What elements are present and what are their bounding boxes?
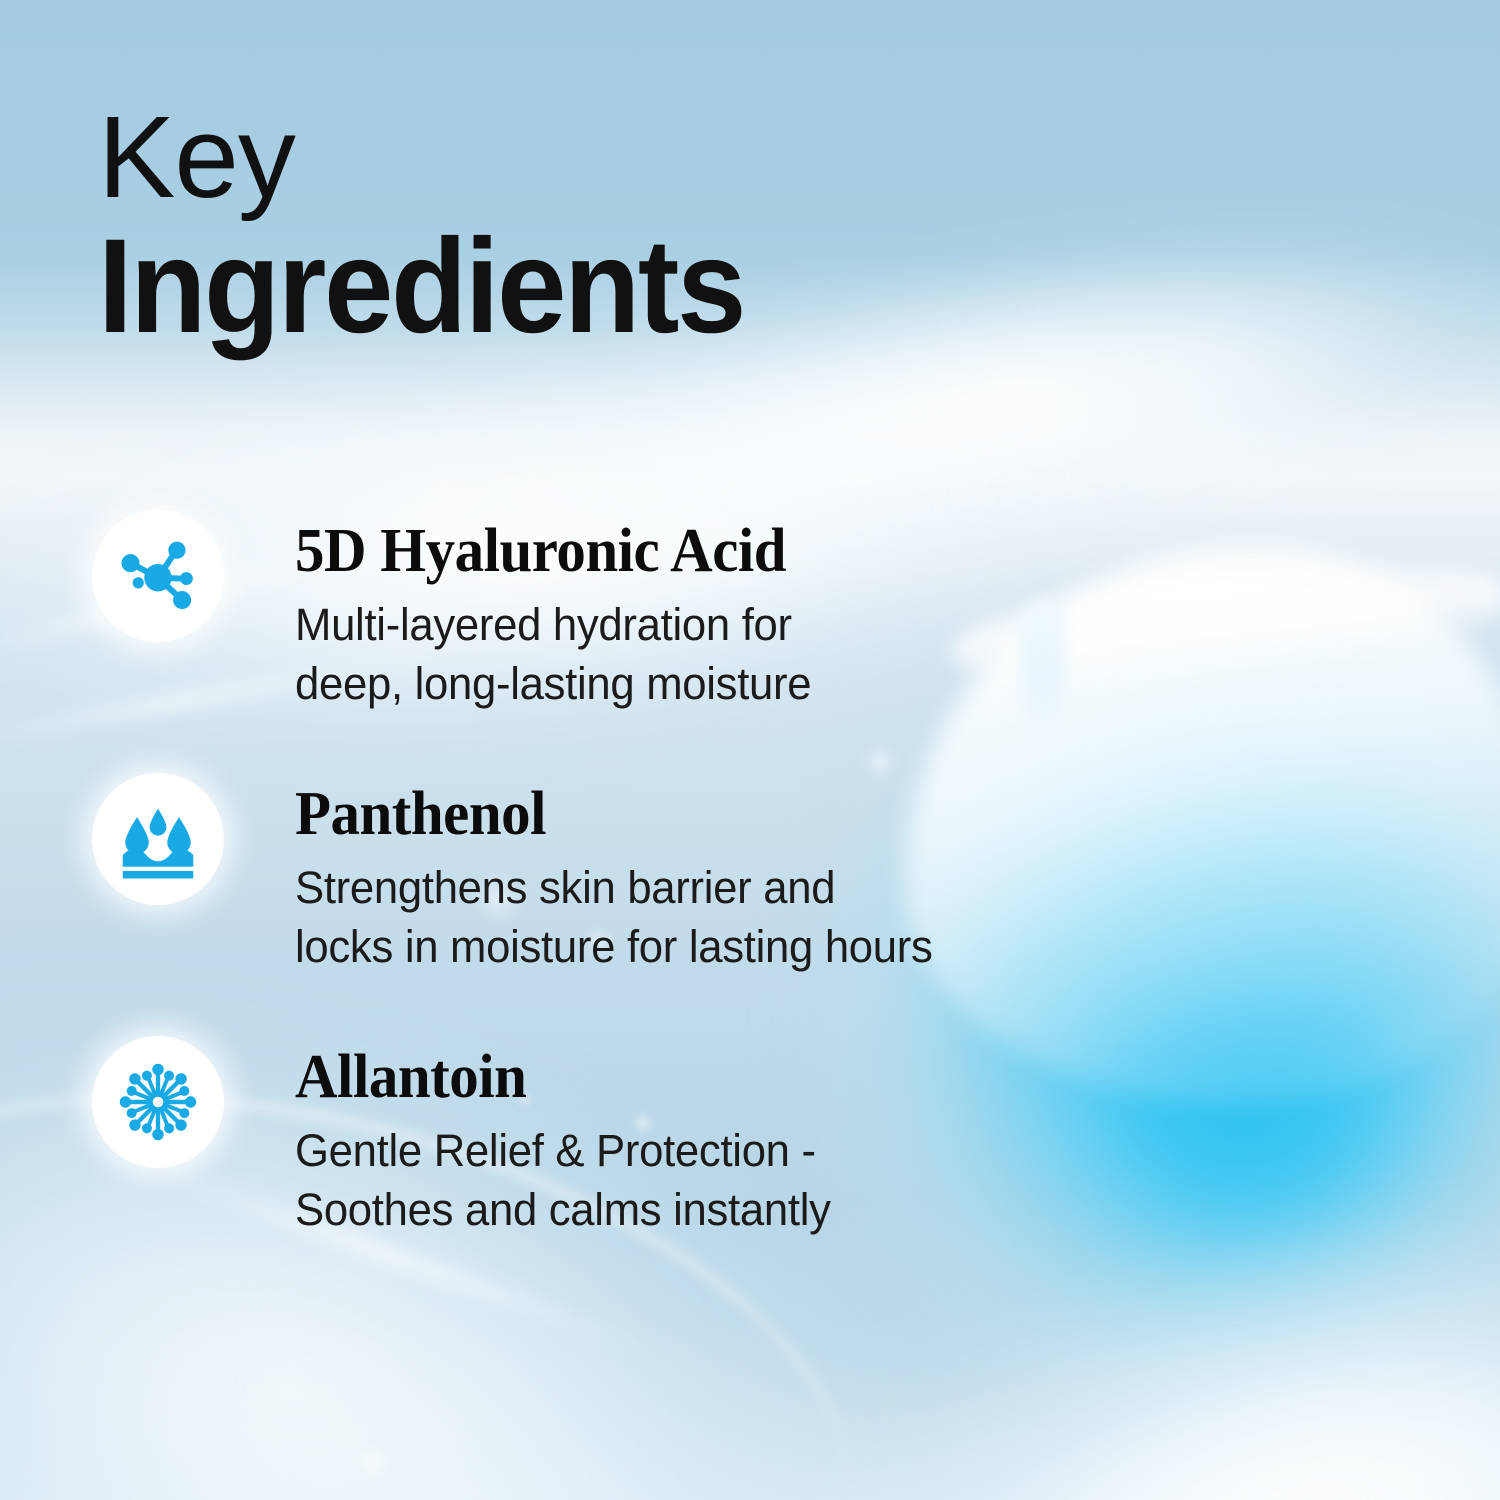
water-droplets-barrier-icon [116, 797, 200, 881]
icon-badge [92, 1036, 224, 1168]
ingredient-text: Allantoin Gentle Relief & Protection - S… [295, 1034, 847, 1239]
ingredient-item-allantoin: Allantoin Gentle Relief & Protection - S… [92, 1034, 1132, 1239]
page-title-line-2: Ingredients [98, 219, 744, 356]
molecule-icon [115, 533, 201, 619]
ingredient-text: Panthenol Strengthens skin barrier and l… [295, 771, 952, 976]
ingredient-name: 5D Hyaluronic Acid [295, 520, 801, 582]
icon-badge [92, 510, 224, 642]
ingredient-text: 5D Hyaluronic Acid Multi-layered hydrati… [295, 508, 827, 713]
ingredient-name: Allantoin [295, 1046, 820, 1108]
ingredient-description: Multi-layered hydration for deep, long-l… [295, 596, 811, 713]
radial-burst-icon [114, 1058, 202, 1146]
key-ingredients-infographic: Key Ingredients [0, 0, 1500, 1500]
page-title-line-1: Key [98, 96, 793, 219]
ingredient-item-hyaluronic-acid: 5D Hyaluronic Acid Multi-layered hydrati… [92, 508, 1132, 713]
ingredient-description: Gentle Relief & Protection - Soothes and… [295, 1122, 831, 1239]
ingredient-list: 5D Hyaluronic Acid Multi-layered hydrati… [92, 508, 1132, 1297]
icon-badge [92, 773, 224, 905]
ingredient-item-panthenol: Panthenol Strengthens skin barrier and l… [92, 771, 1132, 976]
ingredient-name: Panthenol [295, 783, 919, 845]
page-title: Key Ingredients [98, 96, 793, 356]
ingredient-description: Strengthens skin barrier and locks in mo… [295, 859, 933, 976]
